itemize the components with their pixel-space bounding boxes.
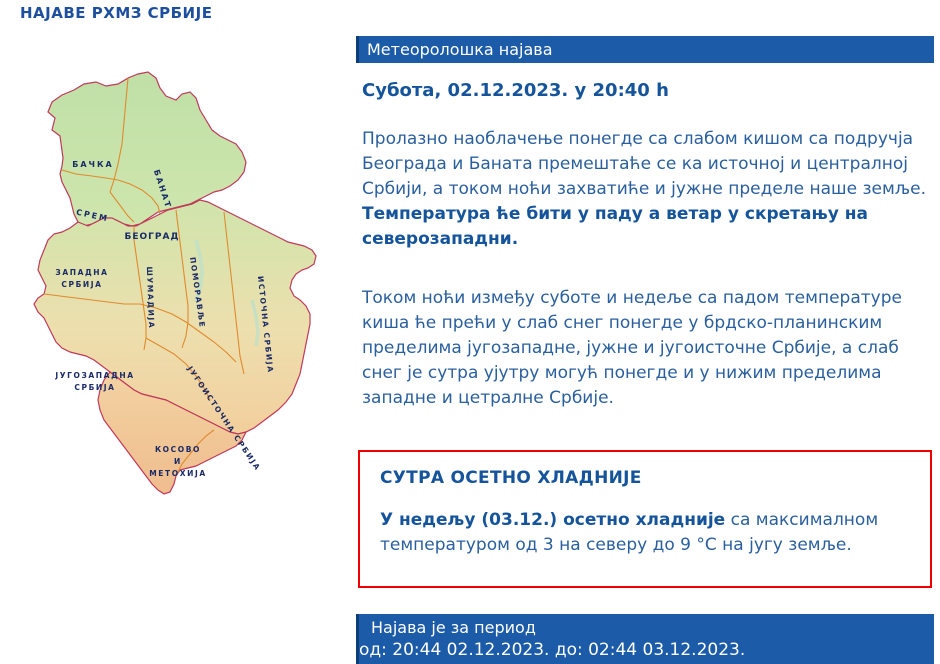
alert-text-bold: У недељу (03.12.) осетно хладније bbox=[380, 510, 725, 530]
paragraph-1-bold-text: Температура ће бити у паду а ветар у скр… bbox=[362, 204, 868, 249]
page-title: НАЈАВЕ РХМЗ СРБИЈЕ bbox=[20, 4, 212, 22]
map-label-jugozapadna-srbija-line2: СРБИЈА bbox=[74, 383, 115, 392]
map-label-kosovo-line1: КОСОВО bbox=[155, 445, 201, 454]
map-label-kosovo-line3: МЕТОХИЈА bbox=[149, 469, 207, 478]
map-label-kosovo-line2: И bbox=[174, 457, 182, 466]
serbia-map-svg: БАЧКА БАНАТ СРЕМ БЕОГРАД ЗАПАДНА СРБИЈА … bbox=[0, 40, 350, 540]
validity-label: Најава је за период bbox=[371, 616, 536, 639]
serbia-map-panel: БАЧКА БАНАТ СРЕМ БЕОГРАД ЗАПАДНА СРБИЈА … bbox=[0, 40, 350, 540]
map-label-backa: БАЧКА bbox=[72, 160, 113, 169]
announcement-paragraph-2: Током ноћи између суботе и недеље са пад… bbox=[362, 286, 934, 411]
validity-period: од: 20:44 02.12.2023. до: 02:44 03.12.20… bbox=[359, 639, 745, 662]
map-label-zapadna-srbija-line2: СРБИЈА bbox=[61, 280, 102, 289]
map-area-vojvodina bbox=[48, 72, 246, 226]
alert-box: СУТРА ОСЕТНО ХЛАДНИЈЕ У недељу (03.12.) … bbox=[358, 450, 932, 588]
alert-text: У недељу (03.12.) осетно хладније са мак… bbox=[380, 508, 916, 558]
announcement-header-bar: Метеоролошка најава bbox=[356, 36, 934, 63]
map-label-zapadna-srbija-line1: ЗАПАДНА bbox=[55, 268, 108, 277]
announcement-paragraph-1: Пролазно наоблачење понегде са слабом ки… bbox=[362, 127, 934, 252]
announcement-panel: Метеоролошка најава Субота, 02.12.2023. … bbox=[356, 0, 940, 664]
validity-footer-bar: Најава је за период од: 20:44 02.12.2023… bbox=[356, 614, 934, 664]
alert-title: СУТРА ОСЕТНО ХЛАДНИЈЕ bbox=[380, 468, 642, 488]
announcement-date: Субота, 02.12.2023. у 20:40 h bbox=[362, 80, 669, 101]
map-label-beograd: БЕОГРАД bbox=[125, 232, 180, 242]
map-label-jugozapadna-srbija-line1: ЈУГОЗАПАДНА bbox=[54, 371, 134, 380]
paragraph-1-plain-text: Пролазно наоблачење понегде са слабом ки… bbox=[362, 129, 926, 199]
